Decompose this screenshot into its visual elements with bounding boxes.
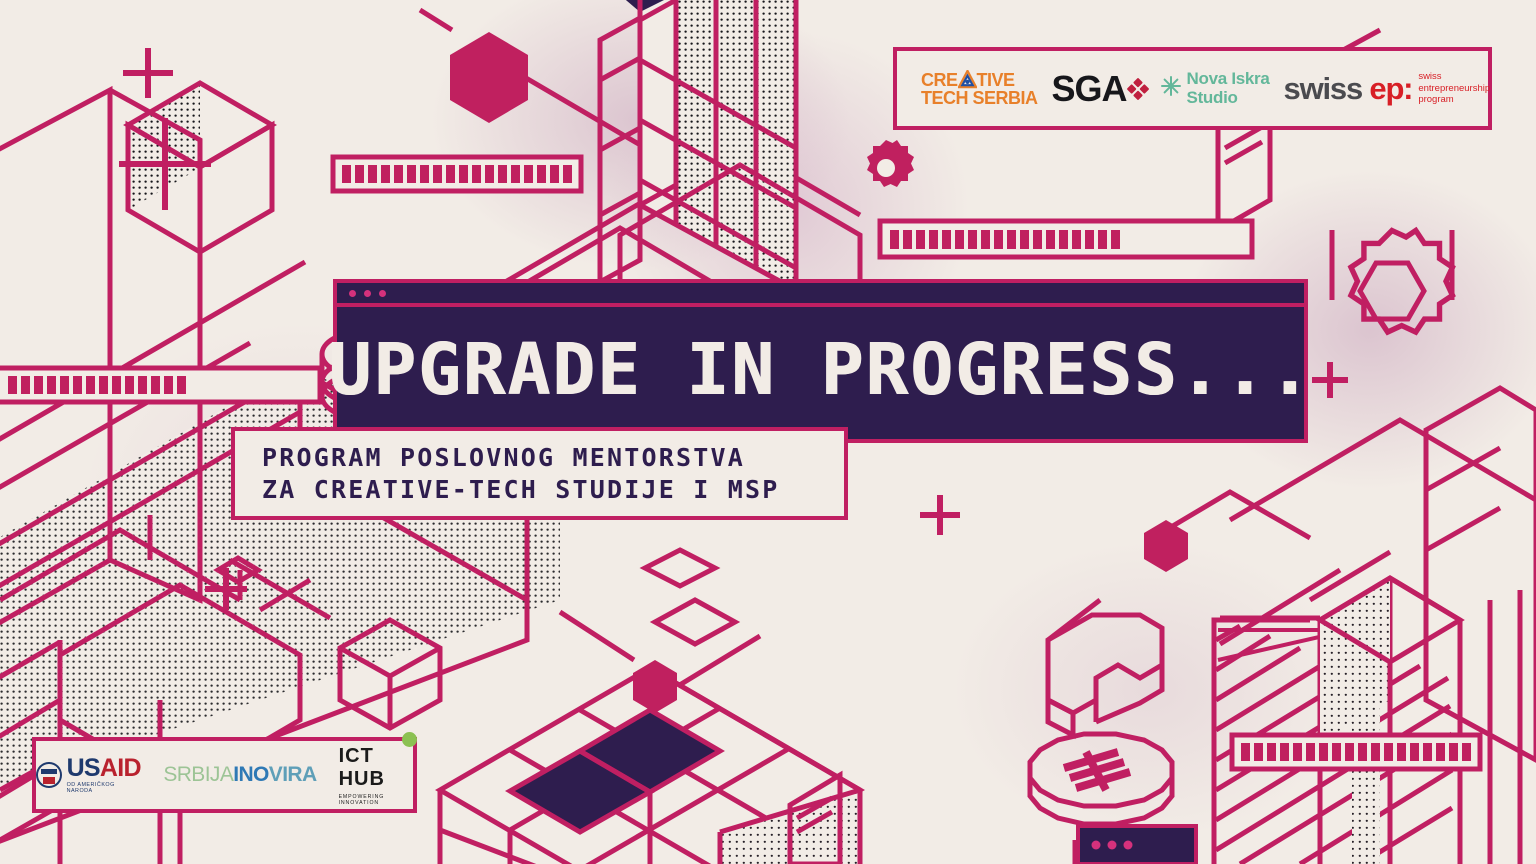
donor-logo-bar: USAID OD AMERIČKOG NARODA SRBIJAINOVIRA … <box>32 737 417 813</box>
logo-nova-iskra-studio: Nova Iskra Studio <box>1160 70 1270 106</box>
ict-hub-subtitle: EMPOWERING INNOVATION <box>339 794 413 806</box>
headline-window: UPGRADE IN PROGRESS... <box>333 279 1308 443</box>
subtitle-plate: PROGRAM POSLOVNOG MENTORSTVA ZA CREATIVE… <box>231 427 848 520</box>
progress-bar-3 <box>0 368 320 402</box>
srbija-part-c: VIRA <box>269 763 317 787</box>
window-dot-minimize-icon[interactable] <box>364 290 371 297</box>
partner-logo-bar: CRE TIVE TECH SERBIA SGA <box>893 47 1492 130</box>
swissep-sub-line3: program <box>1418 94 1453 105</box>
swissep-main-a: swiss <box>1284 71 1370 106</box>
nova-iskra-line2: Studio <box>1187 88 1238 107</box>
progress-bar-4 <box>1232 735 1480 769</box>
logo-usaid: USAID OD AMERIČKOG NARODA <box>36 756 141 794</box>
poster-stage: CRE TIVE TECH SERBIA SGA <box>0 0 1536 864</box>
creative-tech-triangle-icon <box>958 70 977 89</box>
logo-sga: SGA <box>1052 68 1146 110</box>
progress-bar-2 <box>880 221 1252 257</box>
window-dot-close-icon[interactable] <box>349 290 356 297</box>
ict-hub-dot-icon <box>402 732 417 747</box>
swissep-sub-line2: entrepreneurship <box>1418 83 1490 94</box>
window-title-bar <box>337 283 1304 307</box>
creative-tech-line2: TECH SERBIA <box>921 89 1038 107</box>
swissep-main-b: ep: <box>1369 71 1412 106</box>
logo-swiss-ep: swiss ep: swiss entrepreneurship program <box>1284 71 1491 107</box>
srbija-part-a: SRBIJA <box>163 763 233 787</box>
subtitle-line-1: PROGRAM POSLOVNOG MENTORSTVA <box>262 445 844 470</box>
subtitle-line-2: ZA CREATIVE-TECH STUDIJE I MSP <box>262 477 844 502</box>
creative-tech-line1-a: CRE <box>921 71 958 89</box>
logo-ict-hub: ICT HUB EMPOWERING INNOVATION <box>339 745 413 806</box>
logo-creative-tech-serbia: CRE TIVE TECH SERBIA <box>921 70 1038 107</box>
srbija-part-b: INO <box>233 763 269 787</box>
ict-hub-title: ICT HUB <box>339 745 413 791</box>
nova-iskra-line1: Nova Iskra <box>1187 69 1270 88</box>
creative-tech-line1-b: TIVE <box>977 71 1015 89</box>
usaid-subtitle: OD AMERIČKOG NARODA <box>67 783 142 794</box>
sga-wordmark: SGA <box>1052 68 1127 110</box>
headline-text: UPGRADE IN PROGRESS... <box>337 307 1304 435</box>
swissep-sub-line1: swiss <box>1418 71 1441 82</box>
window-dot-maximize-icon[interactable] <box>379 290 386 297</box>
nova-iskra-spark-icon <box>1160 75 1182 102</box>
usaid-text-b: AID <box>100 754 141 782</box>
logo-srbija-inovira: SRBIJAINOVIRA <box>163 763 316 787</box>
usaid-text-a: US <box>67 754 100 782</box>
mini-window-bottom-right <box>1078 826 1196 864</box>
progress-bar-1 <box>333 157 581 191</box>
usaid-seal-icon <box>36 762 62 788</box>
sga-dots-icon <box>1126 77 1149 100</box>
